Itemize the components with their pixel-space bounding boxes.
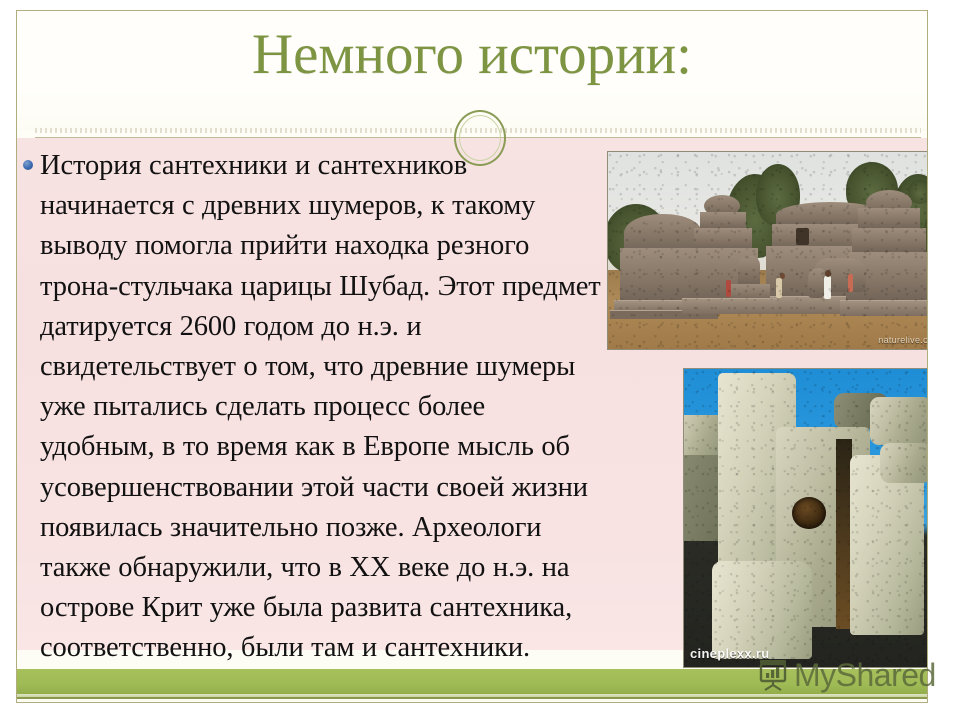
temple-tier [852,228,926,254]
decorative-ring-icon [454,110,506,166]
statue-base [722,298,778,314]
presentation-chart-icon [756,658,790,692]
visitor-figure [776,278,782,298]
temple-tier [694,228,752,250]
temple-plinth [840,300,928,316]
statue-sculpture [738,256,760,286]
visitor-head [825,270,831,277]
temple-window [796,228,809,245]
myshared-watermark: MyShared [756,658,936,692]
slide-frame: Немного истории: История сантехники и са… [16,10,928,703]
content-band: История сантехники и сантехников начинае… [17,138,927,650]
visitor-head [780,273,785,279]
visitor-figure [848,274,853,292]
visitor-figure [726,280,731,297]
stone-block [880,443,928,483]
elephant-trunk [808,268,824,298]
bullet-dot-icon [23,160,33,170]
visitor-figure [824,276,831,299]
photo-caption: naturelive.com [878,335,928,345]
stone-block [870,397,928,445]
page-title: Немного истории: [17,25,927,85]
bottom-hairline [17,694,927,697]
temple-tier [858,208,920,230]
body-paragraph: История сантехники и сантехников начинае… [40,146,603,669]
ancient-indian-temples-photo: naturelive.com [607,151,928,350]
myshared-watermark-label: MyShared [794,659,936,691]
stone-hole [792,497,826,529]
megalithic-stones-photo: cineplexx.ru [683,368,928,668]
stone-fallen-slab [712,561,812,659]
slide-root: Немного истории: История сантехники и са… [0,0,960,720]
body-bullet-item: История сантехники и сантехников начинае… [23,146,603,669]
